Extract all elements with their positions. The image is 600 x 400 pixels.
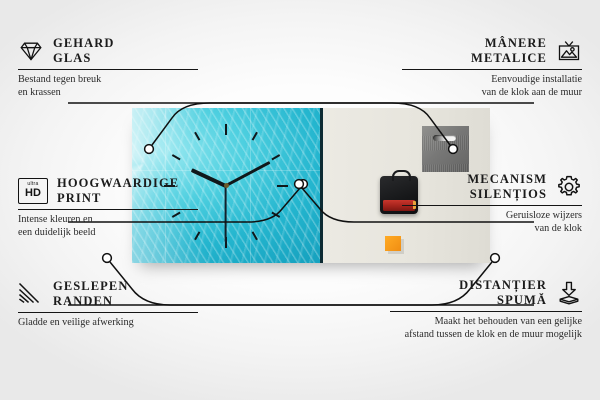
feature-title: GEHARD GLAS [53, 36, 114, 65]
feature-description: Eenvoudige installatie van de klok aan d… [402, 74, 582, 99]
feature-description: Geruisloze wijzers van de klok [402, 210, 582, 235]
feature-rule [18, 69, 198, 70]
metal-hanger-plate [422, 126, 469, 172]
feature-rule [18, 209, 198, 210]
feature-title: MÂNERE METALICE [471, 36, 547, 65]
face-seam [132, 170, 320, 171]
clock-center-cap [224, 183, 229, 188]
feature-rule [390, 311, 582, 312]
feature-silent-mechanism: MECANISM SILENȚIOS Geruisloze wijzers va… [402, 172, 582, 236]
down-arrow-pad-icon [556, 280, 582, 306]
feature-rule [402, 205, 582, 206]
feature-polished-edges: GESLEPEN RANDEN Gladde en veilige afwerk… [18, 279, 198, 330]
feature-description: Bestand tegen breuk en krassen [18, 74, 198, 99]
ultra-hd-main-label: HD [25, 188, 41, 199]
feature-metal-handles: MÂNERE METALICE Eenvoudige installatie v… [402, 36, 582, 100]
feature-rule [18, 312, 198, 313]
clock-second-hand [225, 186, 227, 242]
feature-rule [402, 69, 582, 70]
feature-title: DISTANȚIER SPUMĂ [459, 278, 547, 307]
feature-description: Maakt het behouden van een gelijke afsta… [390, 316, 582, 341]
feature-foam-spacer: DISTANȚIER SPUMĂ Maakt het behouden van … [390, 278, 582, 342]
ultra-hd-icon: ultra HD [18, 178, 48, 204]
hanger-slot [433, 135, 456, 141]
feature-description: Intense kleuren en een duidelijk beeld [18, 214, 198, 239]
leader-endpoint [491, 254, 500, 263]
feature-title: GESLEPEN RANDEN [53, 279, 129, 308]
face-seam [250, 108, 251, 263]
diamond-icon [18, 38, 44, 64]
clock-minute-hand [225, 161, 271, 187]
infographic-canvas: GEHARD GLAS Bestand tegen breuk en krass… [0, 0, 600, 400]
picture-frame-icon [556, 38, 582, 64]
leader-endpoint [103, 254, 112, 263]
feature-description: Gladde en veilige afwerking [18, 317, 198, 330]
feature-high-quality-print: ultra HD HOOGWAARDIGE PRINT Intense kleu… [18, 176, 198, 240]
feature-title: MECANISM SILENȚIOS [467, 172, 547, 201]
gear-icon [556, 174, 582, 200]
feature-tempered-glass: GEHARD GLAS Bestand tegen breuk en krass… [18, 36, 198, 100]
feature-title: HOOGWAARDIGE PRINT [57, 176, 179, 205]
foam-spacer-piece [385, 236, 401, 251]
bevel-lines-icon [18, 281, 44, 307]
